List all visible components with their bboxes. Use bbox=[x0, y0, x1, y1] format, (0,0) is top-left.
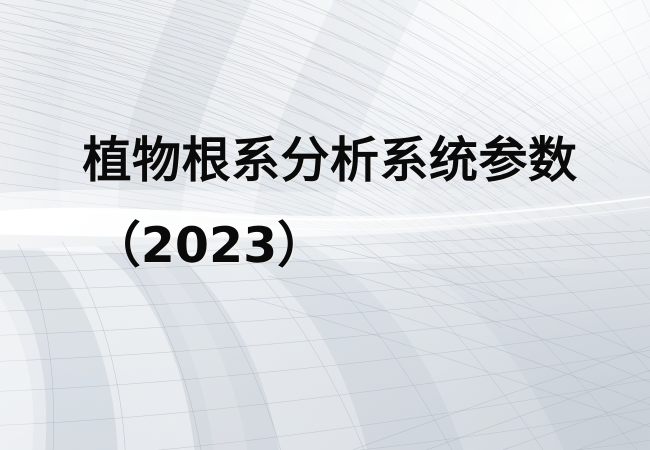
title-slide: 植物根系分析系统参数 （2023） bbox=[0, 0, 650, 450]
slide-background bbox=[0, 0, 650, 450]
background-artwork bbox=[0, 0, 650, 450]
